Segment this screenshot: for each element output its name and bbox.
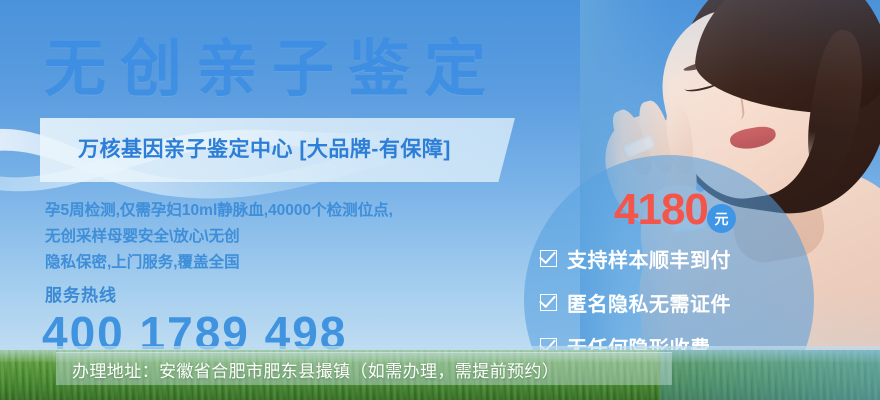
check-icon [540, 250, 557, 267]
feature-label: 支持样本顺丰到付 [567, 244, 731, 273]
price-amount: 4180 [614, 188, 708, 232]
address-text: 办理地址：安徽省合肥市肥东县撮镇（如需办理，需提前预约） [72, 357, 559, 382]
page-title: 无创亲子鉴定 [44, 18, 500, 108]
copy-line-2: 无创采样母婴安全\放心\无创 [45, 224, 393, 250]
list-item: 支持样本顺丰到付 [540, 240, 820, 276]
list-item: 匿名隐私无需证件 [540, 284, 820, 320]
feature-label: 匿名隐私无需证件 [567, 288, 731, 317]
brand-name: 万核基因亲子鉴定中心 [大品牌-有保障] [78, 133, 451, 163]
copy-block: 孕5周检测,仅需孕妇10ml静脉血,40000个检测位点, 无创采样母婴安全\放… [45, 198, 393, 276]
grass-blue-overlay [660, 350, 880, 400]
hotline-label: 服务热线 [45, 281, 117, 306]
ad-banner: 无创亲子鉴定 万核基因亲子鉴定中心 [大品牌-有保障] 孕5周检测,仅需孕妇10… [0, 0, 880, 400]
price-unit-badge: 元 [707, 204, 736, 233]
copy-line-1: 孕5周检测,仅需孕妇10ml静脉血,40000个检测位点, [45, 198, 393, 224]
copy-line-3: 隐私保密,上门服务,覆盖全国 [45, 250, 393, 276]
check-icon [540, 294, 557, 311]
